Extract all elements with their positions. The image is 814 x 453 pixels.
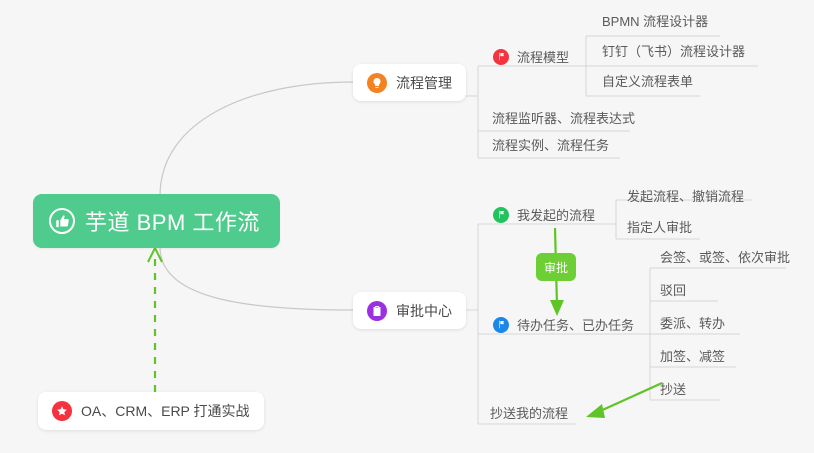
leaf-delegate-transfer[interactable]: 委派、转办 [660, 315, 725, 333]
star-icon [52, 401, 72, 421]
edge-root-to-approval-center [160, 247, 353, 310]
root-node[interactable]: 芋道 BPM 工作流 [33, 194, 280, 248]
clipboard-icon [367, 301, 387, 321]
footnote-node[interactable]: OA、CRM、ERP 打通实战 [38, 392, 264, 430]
node-my-started-process[interactable]: 我发起的流程 [493, 205, 595, 224]
flag-icon [493, 317, 509, 333]
node-label-my-started-process: 我发起的流程 [517, 205, 595, 224]
flag-icon [493, 207, 509, 223]
leaf-assignee-approval[interactable]: 指定人审批 [627, 219, 692, 237]
node-label-process-model: 流程模型 [517, 47, 569, 66]
arrow-cc-diagonal [598, 383, 662, 412]
leaf-start-cancel-process[interactable]: 发起流程、撤销流程 [627, 188, 744, 206]
leaf-cc[interactable]: 抄送 [660, 381, 686, 399]
flag-icon [493, 49, 509, 65]
edge-root-to-process-management [160, 82, 353, 196]
leaf-countersign[interactable]: 会签、或签、依次审批 [660, 249, 790, 267]
node-process-model[interactable]: 流程模型 [493, 47, 569, 66]
root-label: 芋道 BPM 工作流 [85, 205, 260, 237]
branch-node-approval-center[interactable]: 审批中心 [353, 292, 466, 329]
node-todo-done-tasks[interactable]: 待办任务、已办任务 [493, 315, 634, 334]
leaf-add-remove-sign[interactable]: 加签、减签 [660, 348, 725, 366]
node-label-todo-done-tasks: 待办任务、已办任务 [517, 315, 634, 334]
branch-label-approval-center: 审批中心 [396, 301, 452, 321]
arrow-footnote-dashed-head [148, 248, 162, 262]
leaf-bpmn-designer[interactable]: BPMN 流程设计器 [602, 13, 708, 31]
leaf-instance-task[interactable]: 流程实例、流程任务 [492, 137, 609, 155]
leaf-dingtalk-designer[interactable]: 钉钉（飞书）流程设计器 [602, 43, 745, 61]
branch-node-process-management[interactable]: 流程管理 [353, 64, 466, 101]
leaf-reject[interactable]: 驳回 [660, 282, 686, 300]
leaf-custom-form[interactable]: 自定义流程表单 [602, 73, 693, 91]
annotation-approval-label: 审批 [536, 253, 576, 281]
leaf-cc-to-me-process[interactable]: 抄送我的流程 [490, 405, 568, 423]
mindmap-canvas: 芋道 BPM 工作流 OA、CRM、ERP 打通实战 流程管理 流程模型 BPM… [0, 0, 814, 453]
leaf-listener-expression[interactable]: 流程监听器、流程表达式 [492, 110, 635, 128]
arrow-cc-diagonal-head [586, 404, 605, 418]
footnote-label: OA、CRM、ERP 打通实战 [81, 401, 250, 421]
arrow-approval-vertical-head [550, 300, 564, 316]
thumbs-up-icon [49, 208, 75, 234]
branch-label-process-management: 流程管理 [396, 73, 452, 93]
lightbulb-icon [367, 73, 387, 93]
